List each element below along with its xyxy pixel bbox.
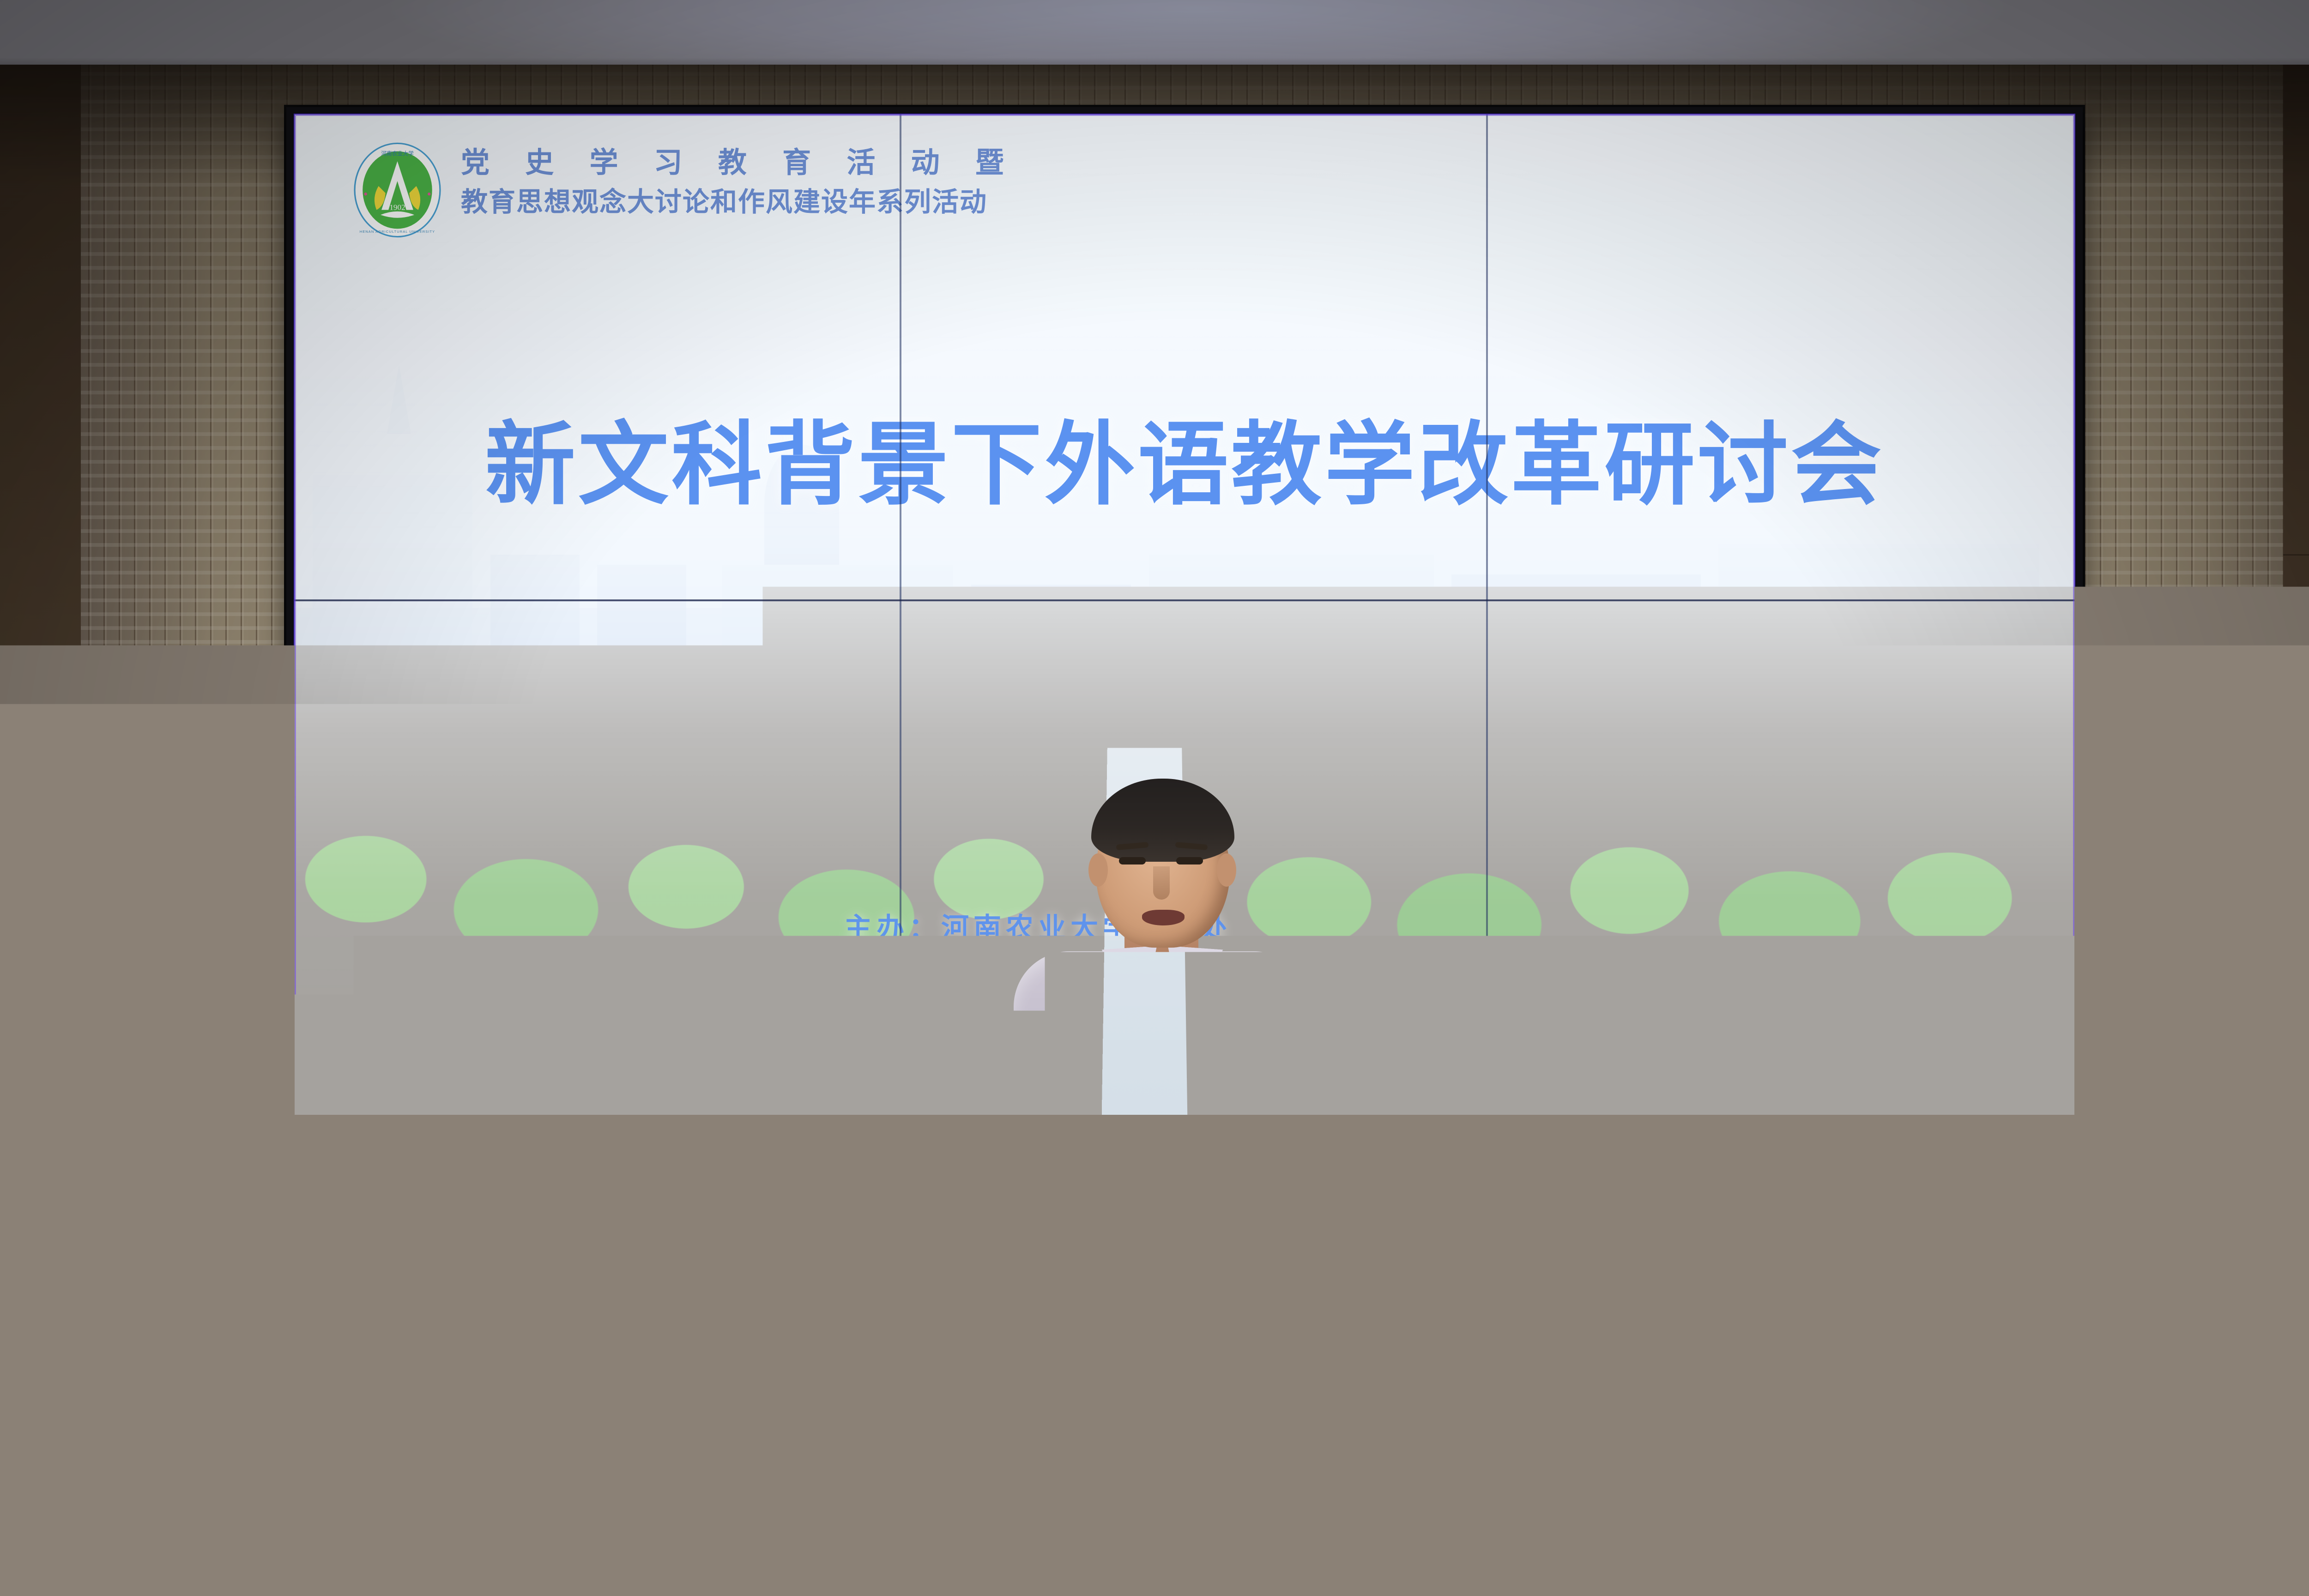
slide-header: 党 史 学 习 教 育 活 动 暨 教育思想观念大讨论和作风建设年系列活动: [461, 145, 1018, 219]
emblem-english-text: SCHOOL OF FOREIGN STUDIES · HENAN AGRICU…: [1081, 1571, 1219, 1584]
video-wall-seam-vertical: [1486, 115, 1488, 1115]
svg-text:河南农业大学: 河南农业大学: [381, 150, 414, 157]
svg-text:1902: 1902: [389, 203, 405, 212]
audience-member-shirt-fold: [2037, 1411, 2230, 1596]
svg-text:HENAN AGRICULTURAL UNIVERSITY: HENAN AGRICULTURAL UNIVERSITY: [360, 230, 435, 234]
slide-header-line-2: 教育思想观念大讨论和作风建设年系列活动: [461, 185, 1018, 219]
slide-header-line-1: 党 史 学 习 教 育 活 动 暨: [461, 145, 1018, 181]
presenter-nose: [1153, 866, 1170, 900]
emblem-monogram: SFS: [1081, 1450, 1219, 1589]
thinkpad-logo: ThinkPad: [1044, 1046, 1106, 1091]
video-wall-seam-horizontal: [295, 599, 2074, 601]
wooden-lectern: 河南农业大学外国语学院 SFS 1959 SCHOOL OF FOREIGN S…: [917, 1155, 1383, 1596]
audience-member-hair: [1958, 1134, 2198, 1346]
conference-room-photo: 1902 河南农业大学 HENAN AGRICULTURAL UNIVERSIT…: [0, 0, 2309, 1596]
emblem-year: 1959: [1081, 1547, 1219, 1559]
presenter-eye-right: [1176, 857, 1203, 864]
microphone-cable-loop: [1348, 1201, 1423, 1487]
school-of-foreign-studies-emblem: 河南农业大学外国语学院 SFS 1959 SCHOOL OF FOREIGN S…: [1081, 1450, 1219, 1589]
presenter-ear-left: [1088, 853, 1108, 887]
presenter-eye-left: [1119, 857, 1146, 864]
presenter-hair: [1091, 779, 1234, 862]
henan-agricultural-university-logo: 1902 河南农业大学 HENAN AGRICULTURAL UNIVERSIT…: [348, 140, 447, 240]
presenter-mouth: [1142, 910, 1185, 925]
wall-socket-plate[interactable]: [1448, 1443, 1490, 1489]
slide-title: 新文科背景下外语教学改革研讨会: [295, 392, 2074, 522]
audience-member: [1930, 1134, 2309, 1596]
video-wall-seam-vertical: [900, 115, 901, 1115]
presenter-ear-right: [1217, 853, 1236, 887]
